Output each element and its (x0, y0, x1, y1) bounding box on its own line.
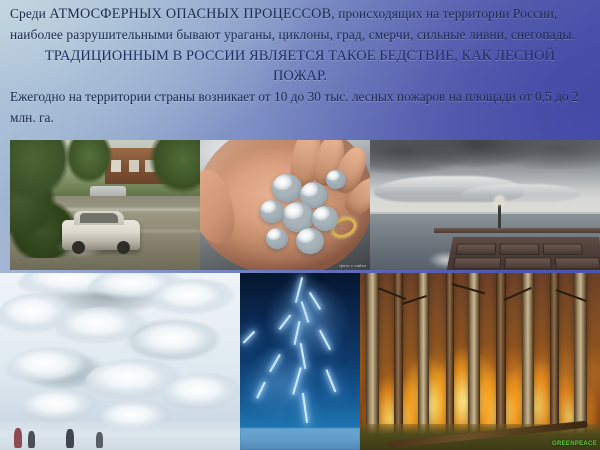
forest-fire-scene: GREENPEACE (360, 273, 600, 450)
car-wheel-front (72, 241, 85, 254)
slide: Среди АТМОСФЕРНЫХ ОПАСНЫХ ПРОЦЕССОВ, про… (0, 0, 600, 450)
flood-submerged-car (62, 220, 140, 250)
snowfall-photo (0, 273, 240, 450)
cargo-hatch (504, 257, 551, 269)
lightning-photo (240, 273, 360, 450)
photo-credit: фото с сайта (339, 263, 366, 268)
pedestrian (14, 428, 22, 448)
snowfall-scene (0, 273, 240, 450)
hail-photo: фото с сайта (200, 140, 370, 270)
shelf-cloud-far (460, 184, 580, 202)
cargo-hatch (543, 244, 584, 255)
flood-tree-center (62, 140, 116, 212)
forest-fire-heading: ТРАДИЦИОННЫМ В РОССИИ ЯВЛЯЕТСЯ ТАКОЕ БЕД… (10, 46, 590, 86)
paragraph-emphasis-caps: АТМОСФЕРНЫХ ОПАСНЫХ ПРОЦЕССОВ (49, 6, 331, 22)
forest-fire-photo: GREENPEACE (360, 273, 600, 450)
lightning-scene (240, 273, 360, 450)
flood-scene (10, 140, 200, 270)
watermark: GREENPEACE (552, 441, 597, 447)
hailstone (326, 170, 346, 189)
flood-tree-right (138, 140, 200, 230)
paragraph-fire-statistics: Ежегодно на территории страны возникает … (10, 87, 590, 128)
cargo-hatch (499, 244, 539, 255)
pedestrian (66, 429, 74, 448)
cargo-hatch (555, 257, 600, 269)
pedestrian (96, 432, 103, 448)
snow-covered-ground (0, 422, 240, 450)
lightning-glow (240, 273, 360, 450)
pedestrian (28, 431, 35, 448)
ship-bow-rail (434, 228, 600, 233)
text-block: Среди АТМОСФЕРНЫХ ОПАСНЫХ ПРОЦЕССОВ, про… (0, 0, 600, 128)
cargo-hatch (453, 257, 501, 269)
flood-photo (10, 140, 200, 270)
storm-at-sea-photo (370, 140, 600, 270)
paragraph-atmospheric-hazards: Среди АТМОСФЕРНЫХ ОПАСНЫХ ПРОЦЕССОВ, про… (10, 4, 590, 45)
storm-at-sea-scene (370, 140, 600, 270)
hailstone (312, 206, 338, 231)
hail-scene: фото с сайта (200, 140, 370, 270)
ship-deck (446, 237, 600, 270)
water-surface (240, 428, 360, 450)
hailstone (272, 174, 302, 202)
paragraph-lead-in: Среди (10, 6, 49, 21)
hailstone (260, 200, 284, 223)
hailstone (296, 228, 324, 254)
hailstone (266, 228, 288, 249)
snow-laden-branch (150, 279, 240, 325)
car-wheel-rear (117, 241, 130, 254)
cargo-hatch (455, 244, 496, 255)
